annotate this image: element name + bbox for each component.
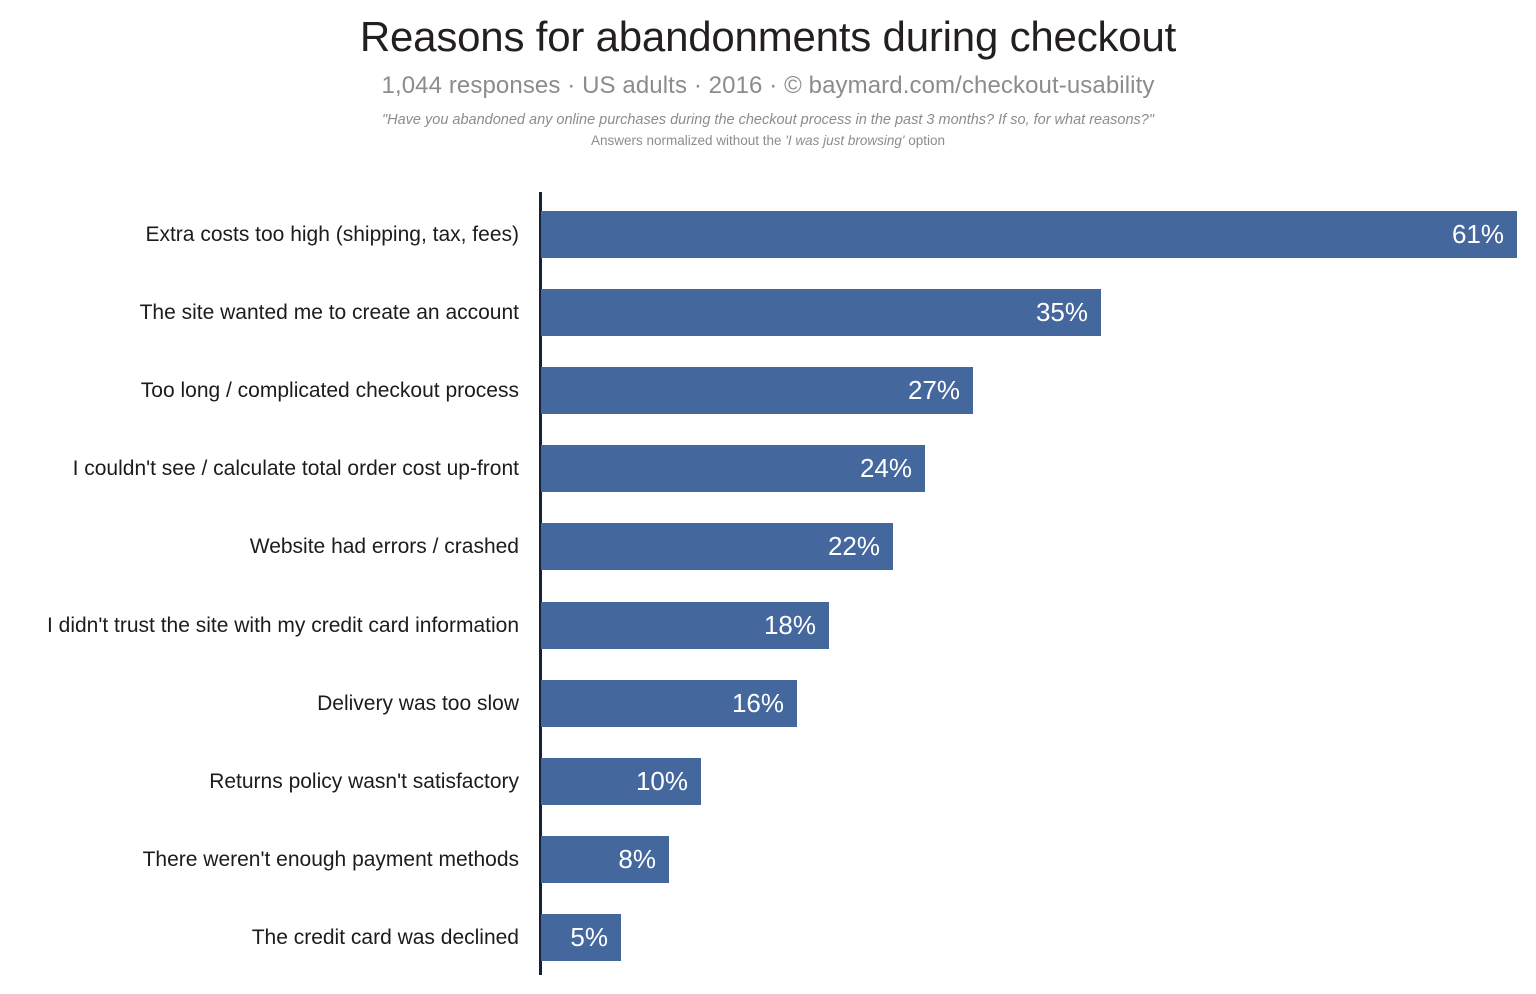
bar-category-label: I couldn't see / calculate total order c… (73, 445, 519, 492)
survey-question-note: "Have you abandoned any online purchases… (0, 101, 1536, 129)
bar-row[interactable]: I didn't trust the site with my credit c… (0, 602, 1536, 649)
bar[interactable]: 18% (541, 602, 829, 649)
bar-category-label: Delivery was too slow (317, 680, 519, 727)
bar[interactable]: 5% (541, 914, 621, 961)
bar-value-label: 16% (732, 680, 784, 727)
bar-row[interactable]: Delivery was too slow16% (0, 680, 1536, 727)
chart-canvas: Reasons for abandonments during checkout… (0, 0, 1536, 994)
bar[interactable]: 16% (541, 680, 797, 727)
bar[interactable]: 24% (541, 445, 925, 492)
bar-category-label: The credit card was declined (252, 914, 519, 961)
bar[interactable]: 27% (541, 367, 973, 414)
bar-row[interactable]: The credit card was declined5% (0, 914, 1536, 961)
bar-category-label: Returns policy wasn't satisfactory (209, 758, 519, 805)
bar-row[interactable]: I couldn't see / calculate total order c… (0, 445, 1536, 492)
bar-value-label: 35% (1036, 289, 1088, 336)
normalization-note-prefix: Answers normalized without the (591, 133, 785, 148)
bar[interactable]: 61% (541, 211, 1517, 258)
bar-row[interactable]: There weren't enough payment methods8% (0, 836, 1536, 883)
bar-category-label: Extra costs too high (shipping, tax, fee… (145, 211, 519, 258)
bar-row[interactable]: Website had errors / crashed22% (0, 523, 1536, 570)
bar-row[interactable]: The site wanted me to create an account3… (0, 289, 1536, 336)
chart-subtitle: 1,044 responses · US adults · 2016 · © b… (0, 62, 1536, 101)
bar-category-label: There weren't enough payment methods (143, 836, 519, 883)
normalization-note-emphasis: 'I was just browsing' (785, 133, 904, 148)
bar-value-label: 24% (860, 445, 912, 492)
bar-value-label: 8% (618, 836, 656, 883)
page-title: Reasons for abandonments during checkout (0, 0, 1536, 62)
bar-category-label: Too long / complicated checkout process (141, 367, 519, 414)
bar-value-label: 5% (570, 914, 608, 961)
chart-header: Reasons for abandonments during checkout… (0, 0, 1536, 150)
bar-value-label: 18% (764, 602, 816, 649)
bar-value-label: 27% (908, 367, 960, 414)
bar[interactable]: 10% (541, 758, 701, 805)
bar-category-label: Website had errors / crashed (250, 523, 519, 570)
bar-value-label: 10% (636, 758, 688, 805)
bar-row[interactable]: Too long / complicated checkout process2… (0, 367, 1536, 414)
normalization-note: Answers normalized without the 'I was ju… (0, 129, 1536, 150)
bar[interactable]: 35% (541, 289, 1101, 336)
bar[interactable]: 22% (541, 523, 893, 570)
bar-category-label: I didn't trust the site with my credit c… (47, 602, 519, 649)
bar-value-label: 22% (828, 523, 880, 570)
bar-row[interactable]: Extra costs too high (shipping, tax, fee… (0, 211, 1536, 258)
bar-value-label: 61% (1452, 211, 1504, 258)
bar-category-label: The site wanted me to create an account (140, 289, 519, 336)
bar-row[interactable]: Returns policy wasn't satisfactory10% (0, 758, 1536, 805)
normalization-note-suffix: option (905, 133, 946, 148)
bar[interactable]: 8% (541, 836, 669, 883)
plot-area: Extra costs too high (shipping, tax, fee… (0, 192, 1536, 982)
